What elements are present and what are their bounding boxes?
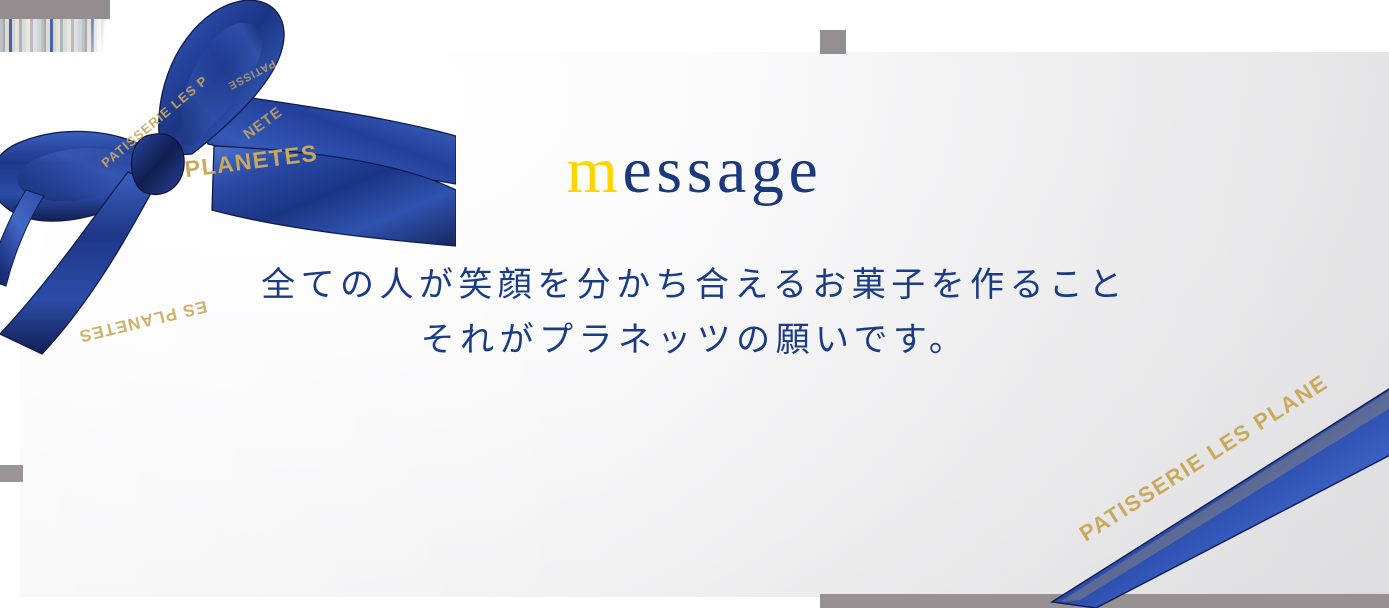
message-body: 全ての人が笑顔を分かち合えるお菓子を作ること それがプラネッツの願いです。 — [0, 258, 1389, 368]
card-bottom-shadow-strip — [820, 594, 1389, 608]
image-streak-artifact — [0, 19, 112, 52]
card-top-tab — [820, 30, 846, 54]
card-topleft-bar — [0, 0, 110, 19]
message-line-1: 全ての人が笑顔を分かち合えるお菓子を作ること — [0, 258, 1389, 313]
section-title-remainder: essage — [622, 134, 822, 207]
section-title-initial: m — [567, 134, 623, 207]
section-title: message — [0, 138, 1389, 204]
message-section: PLANETES PATISSERIE LES PLAN ES PLANETES… — [0, 0, 1389, 608]
message-line-2: それがプラネッツの願いです。 — [0, 313, 1389, 368]
card-left-tab — [0, 465, 23, 482]
